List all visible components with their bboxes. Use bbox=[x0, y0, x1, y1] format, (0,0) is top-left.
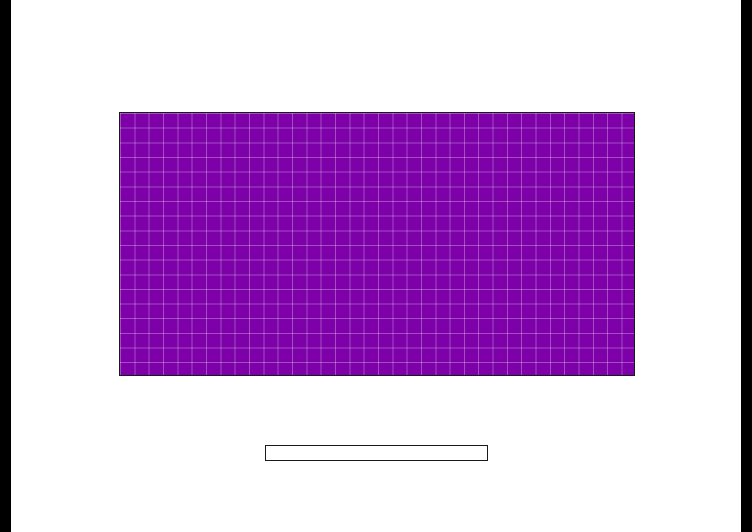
right-border-bar bbox=[741, 0, 752, 532]
colorbar-gradient bbox=[266, 446, 487, 460]
left-border-bar bbox=[0, 0, 11, 532]
contour-plot-area[interactable] bbox=[119, 112, 635, 376]
gpview-figure-window bbox=[0, 0, 752, 532]
colorbar[interactable] bbox=[265, 445, 488, 461]
precipitation-contour-canvas bbox=[120, 113, 634, 375]
